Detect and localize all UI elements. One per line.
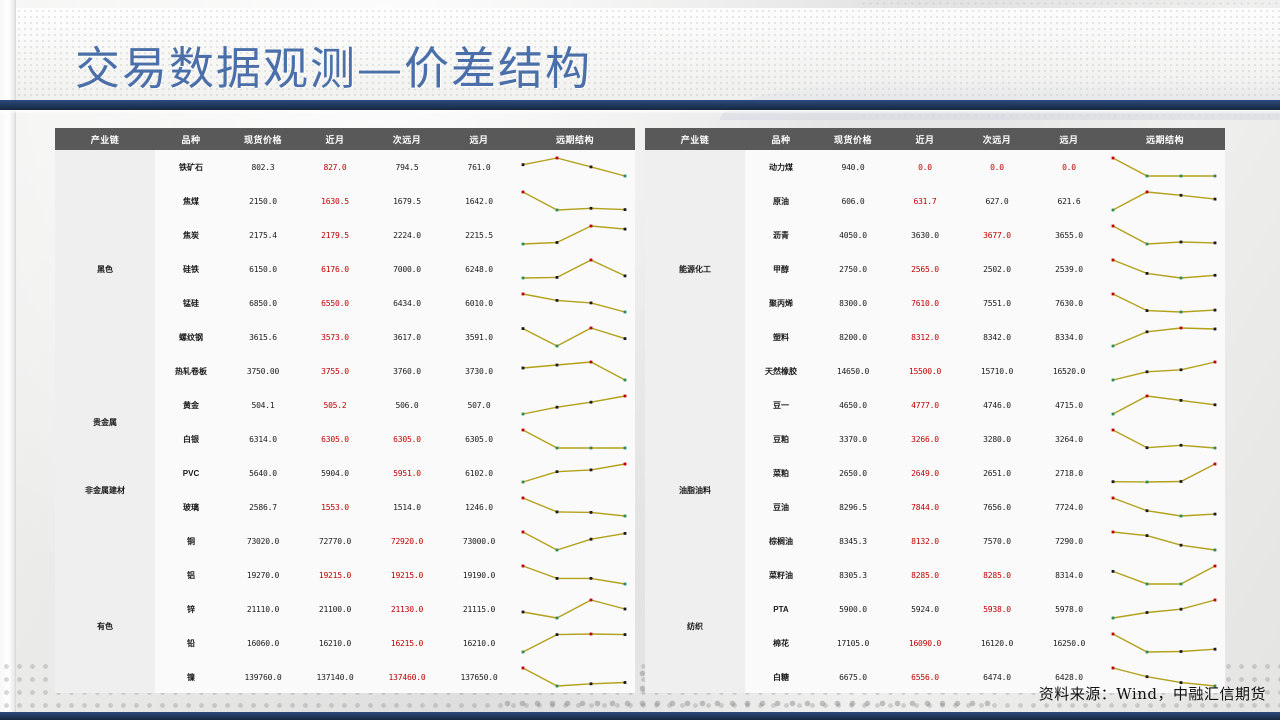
near-month-cell: 631.7: [889, 184, 961, 218]
far-month-cell: 3655.0: [1033, 218, 1105, 252]
variety-cell: 菜粕: [745, 456, 817, 490]
near-month-cell: 0.0: [889, 150, 961, 184]
industry-chain-cell: 能源化工: [645, 150, 745, 388]
forward-curve-sparkline: [1105, 184, 1225, 218]
far-month-cell: 6010.0: [443, 286, 515, 320]
near-month-cell: 8285.0: [889, 558, 961, 592]
right-header-row: 产业链 品种 现货价格 近月 次远月 远月 远期结构: [645, 128, 1225, 150]
variety-cell: 螺纹钢: [155, 320, 227, 354]
table-row[interactable]: 能源化工动力煤940.00.00.00.0: [645, 150, 1225, 184]
near-month-cell: 1630.5: [299, 184, 371, 218]
near-month-cell: 19215.0: [299, 558, 371, 592]
far-month-cell: 507.0: [443, 388, 515, 422]
sub-far-month-cell: 8342.0: [961, 320, 1033, 354]
variety-cell: 铝: [155, 558, 227, 592]
col-header-far: 远月: [1033, 128, 1105, 150]
spot-price-cell: 21110.0: [227, 592, 299, 626]
far-month-cell: 6248.0: [443, 252, 515, 286]
near-month-cell: 16210.0: [299, 626, 371, 660]
variety-cell: 豆粕: [745, 422, 817, 456]
sub-far-month-cell: 627.0: [961, 184, 1033, 218]
forward-curve-sparkline: [515, 456, 635, 490]
variety-cell: 锌: [155, 592, 227, 626]
sub-far-month-cell: 16120.0: [961, 626, 1033, 660]
industry-chain-cell: 有色: [55, 524, 155, 693]
far-month-cell: 6305.0: [443, 422, 515, 456]
sub-far-month-cell: 506.0: [371, 388, 443, 422]
near-month-cell: 21100.0: [299, 592, 371, 626]
col-header-sub: 次远月: [371, 128, 443, 150]
variety-cell: 菜籽油: [745, 558, 817, 592]
forward-curve-sparkline: [515, 490, 635, 524]
col-header-near: 近月: [889, 128, 961, 150]
tables-container: 产业链 品种 现货价格 近月 次远月 远月 远期结构 黑色铁矿石802.3827…: [55, 128, 1225, 693]
near-month-cell: 6556.0: [889, 660, 961, 693]
col-header-variety: 品种: [745, 128, 817, 150]
left-table-head: 产业链 品种 现货价格 近月 次远月 远月 远期结构: [55, 128, 635, 150]
far-month-cell: 0.0: [1033, 150, 1105, 184]
variety-cell: PTA: [745, 592, 817, 626]
forward-curve-sparkline: [515, 320, 635, 354]
spot-price-cell: 5640.0: [227, 456, 299, 490]
forward-curve-sparkline: [1105, 150, 1225, 184]
forward-curve-sparkline: [1105, 320, 1225, 354]
far-month-cell: 8314.0: [1033, 558, 1105, 592]
spot-price-cell: 8200.0: [817, 320, 889, 354]
forward-curve-sparkline: [1105, 456, 1225, 490]
variety-cell: 黄金: [155, 388, 227, 422]
sub-far-month-cell: 21130.0: [371, 592, 443, 626]
col-header-sub: 次远月: [961, 128, 1033, 150]
variety-cell: 沥青: [745, 218, 817, 252]
col-header-spot: 现货价格: [227, 128, 299, 150]
spot-price-cell: 14650.0: [817, 354, 889, 388]
spot-price-cell: 139760.0: [227, 660, 299, 693]
forward-curve-sparkline: [1105, 286, 1225, 320]
far-month-cell: 5978.0: [1033, 592, 1105, 626]
far-month-cell: 2215.5: [443, 218, 515, 252]
near-month-cell: 6305.0: [299, 422, 371, 456]
spot-price-cell: 2750.0: [817, 252, 889, 286]
near-month-cell: 827.0: [299, 150, 371, 184]
spot-price-cell: 8296.5: [817, 490, 889, 524]
table-row[interactable]: 黑色铁矿石802.3827.0794.5761.0: [55, 150, 635, 184]
near-month-cell: 7610.0: [889, 286, 961, 320]
variety-cell: 焦煤: [155, 184, 227, 218]
sub-far-month-cell: 794.5: [371, 150, 443, 184]
table-row[interactable]: 有色铜73020.072770.072920.073000.0: [55, 524, 635, 558]
forward-curve-sparkline: [1105, 354, 1225, 388]
forward-curve-sparkline: [1105, 490, 1225, 524]
far-month-cell: 3591.0: [443, 320, 515, 354]
col-header-near: 近月: [299, 128, 371, 150]
near-month-cell: 2179.5: [299, 218, 371, 252]
left-header-row: 产业链 品种 现货价格 近月 次远月 远月 远期结构: [55, 128, 635, 150]
right-table-body: 能源化工动力煤940.00.00.00.0原油606.0631.7627.062…: [645, 150, 1225, 693]
variety-cell: 天然橡胶: [745, 354, 817, 388]
sub-far-month-cell: 16215.0: [371, 626, 443, 660]
spot-price-cell: 3750.00: [227, 354, 299, 388]
far-month-cell: 2539.0: [1033, 252, 1105, 286]
variety-cell: 铜: [155, 524, 227, 558]
sub-far-month-cell: 7551.0: [961, 286, 1033, 320]
source-note: 资料来源：Wind，中融汇信期货: [1039, 683, 1266, 704]
sub-far-month-cell: 4746.0: [961, 388, 1033, 422]
sub-far-month-cell: 137460.0: [371, 660, 443, 693]
right-table-head: 产业链 品种 现货价格 近月 次远月 远月 远期结构: [645, 128, 1225, 150]
sub-far-month-cell: 7570.0: [961, 524, 1033, 558]
spot-price-cell: 2175.4: [227, 218, 299, 252]
variety-cell: 动力煤: [745, 150, 817, 184]
spot-price-cell: 73020.0: [227, 524, 299, 558]
far-month-cell: 2718.0: [1033, 456, 1105, 490]
near-month-cell: 72770.0: [299, 524, 371, 558]
forward-curve-sparkline: [1105, 524, 1225, 558]
industry-chain-cell: 非金属建材: [55, 456, 155, 524]
near-month-cell: 16090.0: [889, 626, 961, 660]
col-header-chain: 产业链: [645, 128, 745, 150]
industry-chain-cell: 贵金属: [55, 388, 155, 456]
spot-price-cell: 19270.0: [227, 558, 299, 592]
variety-cell: 热轧卷板: [155, 354, 227, 388]
sub-far-month-cell: 3760.0: [371, 354, 443, 388]
spot-price-cell: 2150.0: [227, 184, 299, 218]
forward-curve-sparkline: [515, 422, 635, 456]
far-month-cell: 6102.0: [443, 456, 515, 490]
forward-curve-sparkline: [515, 252, 635, 286]
sub-far-month-cell: 3677.0: [961, 218, 1033, 252]
left-table-wrapper: 产业链 品种 现货价格 近月 次远月 远月 远期结构 黑色铁矿石802.3827…: [55, 128, 635, 693]
spot-price-cell: 16060.0: [227, 626, 299, 660]
near-month-cell: 3630.0: [889, 218, 961, 252]
col-header-curve: 远期结构: [1105, 128, 1225, 150]
spot-price-cell: 6314.0: [227, 422, 299, 456]
forward-curve-sparkline: [515, 626, 635, 660]
near-month-cell: 1553.0: [299, 490, 371, 524]
far-month-cell: 1246.0: [443, 490, 515, 524]
sub-far-month-cell: 1679.5: [371, 184, 443, 218]
near-month-cell: 2649.0: [889, 456, 961, 490]
variety-cell: 铅: [155, 626, 227, 660]
spot-price-cell: 940.0: [817, 150, 889, 184]
variety-cell: 玻璃: [155, 490, 227, 524]
variety-cell: 锰硅: [155, 286, 227, 320]
footer-strip: [0, 712, 1280, 720]
slide-background: 交易数据观测—价差结构 产业链 品种 现货价格 近月 次远月 远月 远期结构: [0, 0, 1280, 720]
table-row[interactable]: 纺织PTA5900.05924.05938.05978.0: [645, 592, 1225, 626]
forward-curve-sparkline: [1105, 252, 1225, 286]
variety-cell: 豆油: [745, 490, 817, 524]
near-month-cell: 3755.0: [299, 354, 371, 388]
sub-far-month-cell: 7656.0: [961, 490, 1033, 524]
sub-far-month-cell: 3617.0: [371, 320, 443, 354]
spot-price-cell: 17105.0: [817, 626, 889, 660]
table-row[interactable]: 贵金属黄金504.1505.2506.0507.0: [55, 388, 635, 422]
far-month-cell: 7630.0: [1033, 286, 1105, 320]
near-month-cell: 3266.0: [889, 422, 961, 456]
forward-curve-sparkline: [1105, 218, 1225, 252]
table-row[interactable]: 油脂油料豆一4650.04777.04746.04715.0: [645, 388, 1225, 422]
near-month-cell: 6550.0: [299, 286, 371, 320]
sub-far-month-cell: 6305.0: [371, 422, 443, 456]
variety-cell: 甲醇: [745, 252, 817, 286]
near-month-cell: 8132.0: [889, 524, 961, 558]
near-month-cell: 3573.0: [299, 320, 371, 354]
spot-price-cell: 6150.0: [227, 252, 299, 286]
spot-price-cell: 5900.0: [817, 592, 889, 626]
near-month-cell: 2565.0: [889, 252, 961, 286]
forward-curve-sparkline: [515, 558, 635, 592]
variety-cell: 铁矿石: [155, 150, 227, 184]
far-month-cell: 21115.0: [443, 592, 515, 626]
variety-cell: 豆一: [745, 388, 817, 422]
industry-chain-cell: 纺织: [645, 592, 745, 660]
near-month-cell: 5924.0: [889, 592, 961, 626]
col-header-spot: 现货价格: [817, 128, 889, 150]
industry-chain-cell: 油脂油料: [645, 388, 745, 592]
sub-far-month-cell: 8285.0: [961, 558, 1033, 592]
right-table-wrapper: 产业链 品种 现货价格 近月 次远月 远月 远期结构 能源化工动力煤940.00…: [645, 128, 1225, 693]
col-header-far: 远月: [443, 128, 515, 150]
col-header-variety: 品种: [155, 128, 227, 150]
far-month-cell: 16210.0: [443, 626, 515, 660]
far-month-cell: 7290.0: [1033, 524, 1105, 558]
forward-curve-sparkline: [515, 524, 635, 558]
spot-price-cell: 4650.0: [817, 388, 889, 422]
title-underline: [0, 100, 1280, 110]
forward-curve-sparkline: [515, 660, 635, 693]
near-month-cell: 15500.0: [889, 354, 961, 388]
left-table-body: 黑色铁矿石802.3827.0794.5761.0焦煤2150.01630.51…: [55, 150, 635, 693]
forward-curve-sparkline: [515, 150, 635, 184]
forward-curve-sparkline: [1105, 388, 1225, 422]
sub-far-month-cell: 5938.0: [961, 592, 1033, 626]
right-price-table: 产业链 品种 现货价格 近月 次远月 远月 远期结构 能源化工动力煤940.00…: [645, 128, 1225, 693]
far-month-cell: 7724.0: [1033, 490, 1105, 524]
far-month-cell: 4715.0: [1033, 388, 1105, 422]
far-month-cell: 73000.0: [443, 524, 515, 558]
near-month-cell: 8312.0: [889, 320, 961, 354]
sub-far-month-cell: 3280.0: [961, 422, 1033, 456]
variety-cell: 白糖: [745, 660, 817, 693]
col-header-chain: 产业链: [55, 128, 155, 150]
left-price-table: 产业链 品种 现货价格 近月 次远月 远月 远期结构 黑色铁矿石802.3827…: [55, 128, 635, 693]
far-month-cell: 761.0: [443, 150, 515, 184]
far-month-cell: 16250.0: [1033, 626, 1105, 660]
far-month-cell: 8334.0: [1033, 320, 1105, 354]
col-header-curve: 远期结构: [515, 128, 635, 150]
variety-cell: 白银: [155, 422, 227, 456]
forward-curve-sparkline: [515, 286, 635, 320]
far-month-cell: 137650.0: [443, 660, 515, 693]
variety-cell: 棕榈油: [745, 524, 817, 558]
far-month-cell: 1642.0: [443, 184, 515, 218]
spot-price-cell: 8345.3: [817, 524, 889, 558]
variety-cell: PVC: [155, 456, 227, 490]
sub-far-month-cell: 19215.0: [371, 558, 443, 592]
far-month-cell: 19190.0: [443, 558, 515, 592]
forward-curve-sparkline: [515, 388, 635, 422]
forward-curve-sparkline: [1105, 422, 1225, 456]
sub-far-month-cell: 0.0: [961, 150, 1033, 184]
forward-curve-sparkline: [515, 218, 635, 252]
sub-far-month-cell: 2224.0: [371, 218, 443, 252]
forward-curve-sparkline: [515, 354, 635, 388]
spot-price-cell: 4050.0: [817, 218, 889, 252]
sub-far-month-cell: 5951.0: [371, 456, 443, 490]
near-month-cell: 6176.0: [299, 252, 371, 286]
spot-price-cell: 2650.0: [817, 456, 889, 490]
far-month-cell: 621.6: [1033, 184, 1105, 218]
variety-cell: 塑料: [745, 320, 817, 354]
near-month-cell: 4777.0: [889, 388, 961, 422]
variety-cell: 棉花: [745, 626, 817, 660]
spot-price-cell: 8305.3: [817, 558, 889, 592]
far-month-cell: 3264.0: [1033, 422, 1105, 456]
spot-price-cell: 3615.6: [227, 320, 299, 354]
spot-price-cell: 6850.0: [227, 286, 299, 320]
industry-chain-cell: 农副产品: [645, 660, 745, 693]
sub-far-month-cell: 6434.0: [371, 286, 443, 320]
near-month-cell: 505.2: [299, 388, 371, 422]
sub-far-month-cell: 1514.0: [371, 490, 443, 524]
far-month-cell: 3730.0: [443, 354, 515, 388]
spot-price-cell: 504.1: [227, 388, 299, 422]
spot-price-cell: 6675.0: [817, 660, 889, 693]
sub-far-month-cell: 7000.0: [371, 252, 443, 286]
far-month-cell: 16520.0: [1033, 354, 1105, 388]
table-row[interactable]: 非金属建材PVC5640.05904.05951.06102.0: [55, 456, 635, 490]
variety-cell: 原油: [745, 184, 817, 218]
variety-cell: 硅铁: [155, 252, 227, 286]
variety-cell: 焦炭: [155, 218, 227, 252]
forward-curve-sparkline: [515, 592, 635, 626]
spot-price-cell: 3370.0: [817, 422, 889, 456]
spot-price-cell: 606.0: [817, 184, 889, 218]
near-month-cell: 7844.0: [889, 490, 961, 524]
sub-far-month-cell: 6474.0: [961, 660, 1033, 693]
spot-price-cell: 2586.7: [227, 490, 299, 524]
sub-far-month-cell: 2502.0: [961, 252, 1033, 286]
forward-curve-sparkline: [515, 184, 635, 218]
page-title: 交易数据观测—价差结构: [75, 32, 592, 97]
spot-price-cell: 8300.0: [817, 286, 889, 320]
near-month-cell: 5904.0: [299, 456, 371, 490]
variety-cell: 聚丙烯: [745, 286, 817, 320]
forward-curve-sparkline: [1105, 558, 1225, 592]
industry-chain-cell: 黑色: [55, 150, 155, 388]
sub-far-month-cell: 72920.0: [371, 524, 443, 558]
near-month-cell: 137140.0: [299, 660, 371, 693]
sub-far-month-cell: 15710.0: [961, 354, 1033, 388]
forward-curve-sparkline: [1105, 626, 1225, 660]
variety-cell: 镍: [155, 660, 227, 693]
sub-far-month-cell: 2651.0: [961, 456, 1033, 490]
forward-curve-sparkline: [1105, 592, 1225, 626]
spot-price-cell: 802.3: [227, 150, 299, 184]
